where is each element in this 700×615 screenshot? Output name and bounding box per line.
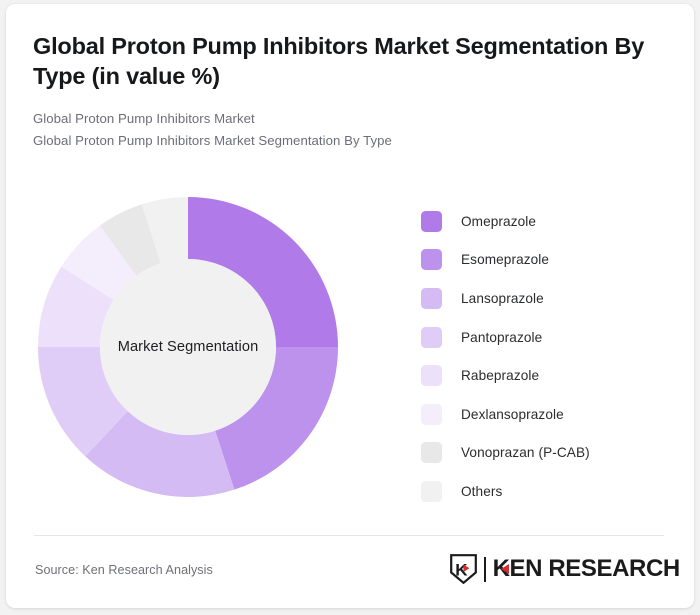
ken-research-logo: K K EN RESEARCH (450, 554, 680, 584)
donut-svg (32, 191, 344, 503)
donut-chart: Market Segmentation (32, 191, 344, 503)
legend-swatch (421, 327, 442, 348)
legend-label: Vonoprazan (P-CAB) (461, 445, 590, 460)
chart-legend: OmeprazoleEsomeprazoleLansoprazolePantop… (421, 202, 681, 511)
legend-label: Pantoprazole (461, 330, 542, 345)
legend-swatch (421, 288, 442, 309)
legend-swatch (421, 365, 442, 386)
source-note: Source: Ken Research Analysis (35, 563, 213, 577)
legend-label: Esomeprazole (461, 252, 549, 267)
legend-item[interactable]: Lansoprazole (421, 279, 681, 318)
donut-hole (100, 259, 276, 435)
legend-item[interactable]: Vonoprazan (P-CAB) (421, 434, 681, 473)
page-title: Global Proton Pump Inhibitors Market Seg… (33, 31, 663, 91)
subtitle-primary: Global Proton Pump Inhibitors Market (33, 108, 663, 129)
legend-item[interactable]: Dexlansoprazole (421, 395, 681, 434)
legend-swatch (421, 442, 442, 463)
legend-label: Lansoprazole (461, 291, 544, 306)
legend-swatch (421, 404, 442, 425)
legend-item[interactable]: Esomeprazole (421, 241, 681, 280)
logo-letter-k: K (493, 557, 510, 581)
logo-wordmark-rest: EN RESEARCH (510, 557, 680, 581)
footer-divider (34, 535, 664, 536)
logo-wordmark: K EN RESEARCH (493, 557, 680, 581)
subtitle-group: Global Proton Pump Inhibitors Market Glo… (33, 108, 663, 151)
subtitle-secondary: Global Proton Pump Inhibitors Market Seg… (33, 130, 663, 151)
legend-swatch (421, 211, 442, 232)
legend-label: Omeprazole (461, 214, 536, 229)
ken-research-shield-icon: K (450, 554, 477, 584)
logo-divider (484, 557, 486, 582)
legend-item[interactable]: Rabeprazole (421, 356, 681, 395)
chart-card: Global Proton Pump Inhibitors Market Seg… (6, 4, 694, 608)
legend-label: Rabeprazole (461, 368, 539, 383)
legend-item[interactable]: Others (421, 472, 681, 511)
chart-header: Global Proton Pump Inhibitors Market Seg… (33, 31, 663, 151)
legend-item[interactable]: Pantoprazole (421, 318, 681, 357)
legend-label: Others (461, 484, 502, 499)
legend-label: Dexlansoprazole (461, 407, 564, 422)
logo-red-triangle-icon (501, 564, 509, 574)
legend-swatch (421, 481, 442, 502)
legend-item[interactable]: Omeprazole (421, 202, 681, 241)
chart-area: Market Segmentation OmeprazoleEsomeprazo… (6, 186, 694, 516)
legend-swatch (421, 249, 442, 270)
